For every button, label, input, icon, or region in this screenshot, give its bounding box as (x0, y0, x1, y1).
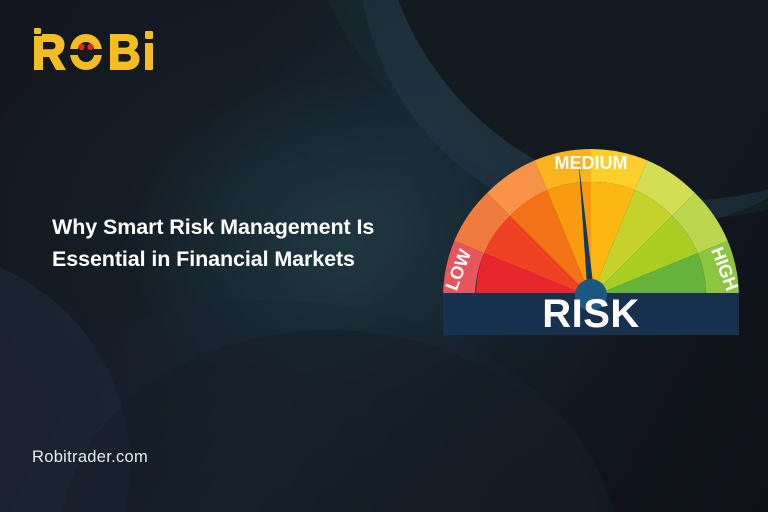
website-url[interactable]: Robitrader.com (32, 448, 148, 467)
headline-line-1: Why Smart Risk Management Is (52, 212, 452, 244)
risk-banner-text: RISK (542, 292, 640, 336)
page-title: Why Smart Risk Management Is Essential i… (52, 212, 452, 276)
background-swoosh-left (0, 250, 130, 512)
promo-banner: Why Smart Risk Management Is Essential i… (0, 0, 768, 512)
background-swoosh-bottom-dark (60, 330, 600, 512)
risk-gauge-chart: LOW MEDIUM HIGH RISK (437, 143, 745, 338)
robi-logo-icon (32, 26, 172, 72)
gauge-label-medium: MEDIUM (555, 153, 628, 173)
headline-line-2: Essential in Financial Markets (52, 244, 452, 276)
robi-logo[interactable] (32, 26, 172, 72)
